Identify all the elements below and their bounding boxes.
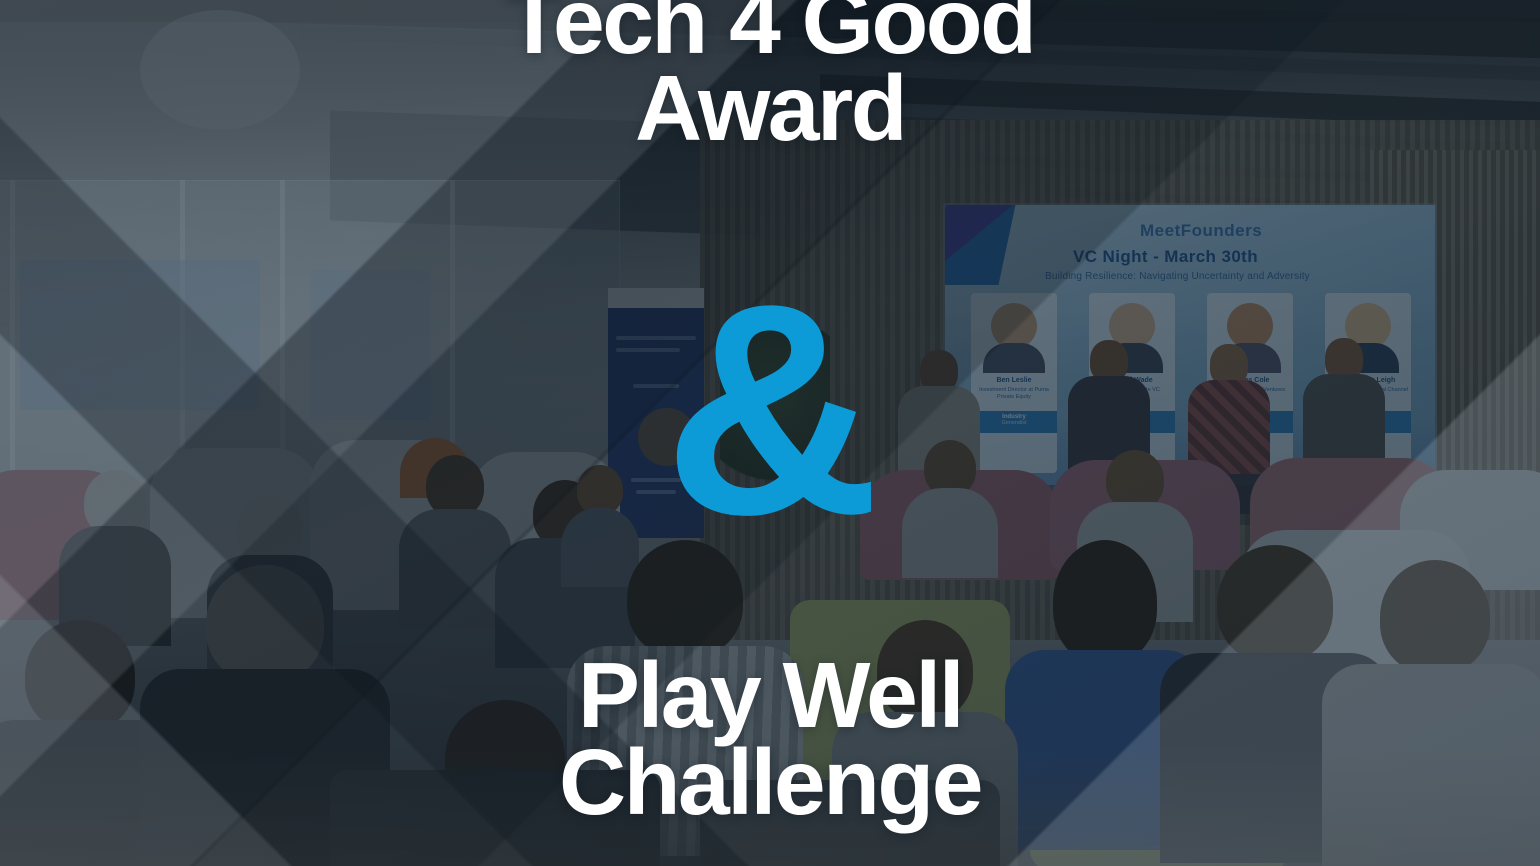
headline-tech-4-good-award: Tech 4 Good Award <box>0 0 1540 153</box>
ampersand-separator: & <box>0 292 1540 526</box>
event-promo-graphic: MeetFounders VC Night - March 30th Build… <box>0 0 1540 866</box>
headline-play-well-challenge: Play Well Challenge <box>0 652 1540 827</box>
graphic-text-layer: Tech 4 Good Award & Play Well Challenge <box>0 0 1540 866</box>
